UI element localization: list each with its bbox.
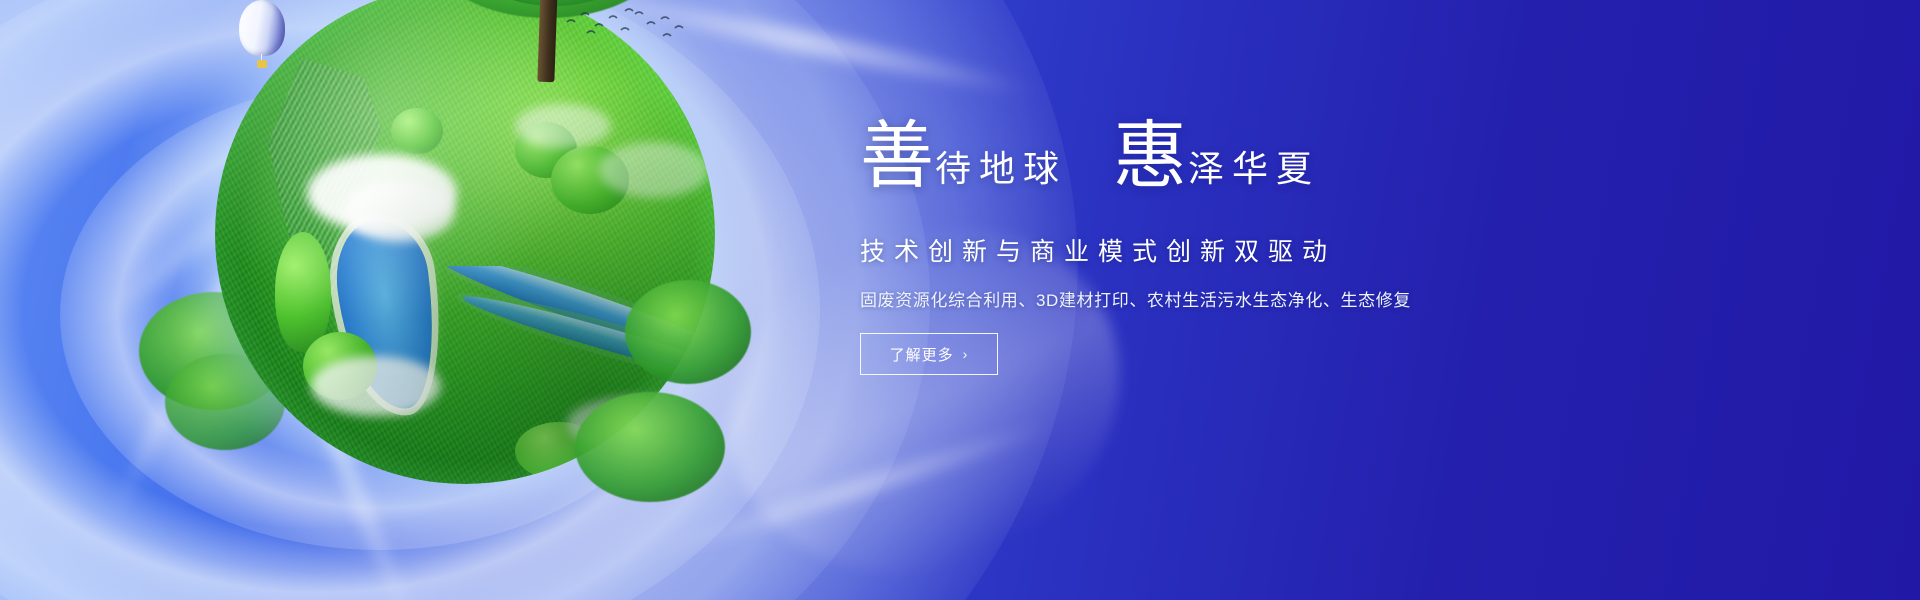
- earth-globe-illustration: [155, 0, 725, 532]
- foreground-tree: [625, 280, 751, 384]
- headline-char-hui: 惠: [1113, 120, 1188, 194]
- page-title: 善待地球惠泽华夏: [860, 120, 1500, 216]
- learn-more-button[interactable]: 了解更多 ›: [860, 333, 998, 375]
- headline-text-zehuaxia: 泽华夏: [1188, 151, 1320, 187]
- headline-char-shan: 善: [860, 120, 935, 194]
- headline-text-daidiqiu: 待地球: [935, 151, 1067, 187]
- learn-more-label: 了解更多: [890, 344, 954, 365]
- chevron-right-icon: ›: [963, 347, 969, 361]
- hero-text-block: 善待地球惠泽华夏 技术创新与商业模式创新双驱动 固废资源化综合利用、3D建材打印…: [860, 120, 1500, 375]
- birds-icon: [563, 6, 693, 56]
- hero-subtitle: 技术创新与商业模式创新双驱动: [860, 232, 1500, 268]
- hero-description: 固废资源化综合利用、3D建材打印、农村生活污水生态净化、生态修复: [860, 286, 1500, 311]
- hot-air-balloon-icon: [239, 0, 285, 74]
- foreground-tree: [575, 392, 725, 502]
- hero-banner: 善待地球惠泽华夏 技术创新与商业模式创新双驱动 固废资源化综合利用、3D建材打印…: [0, 0, 1920, 600]
